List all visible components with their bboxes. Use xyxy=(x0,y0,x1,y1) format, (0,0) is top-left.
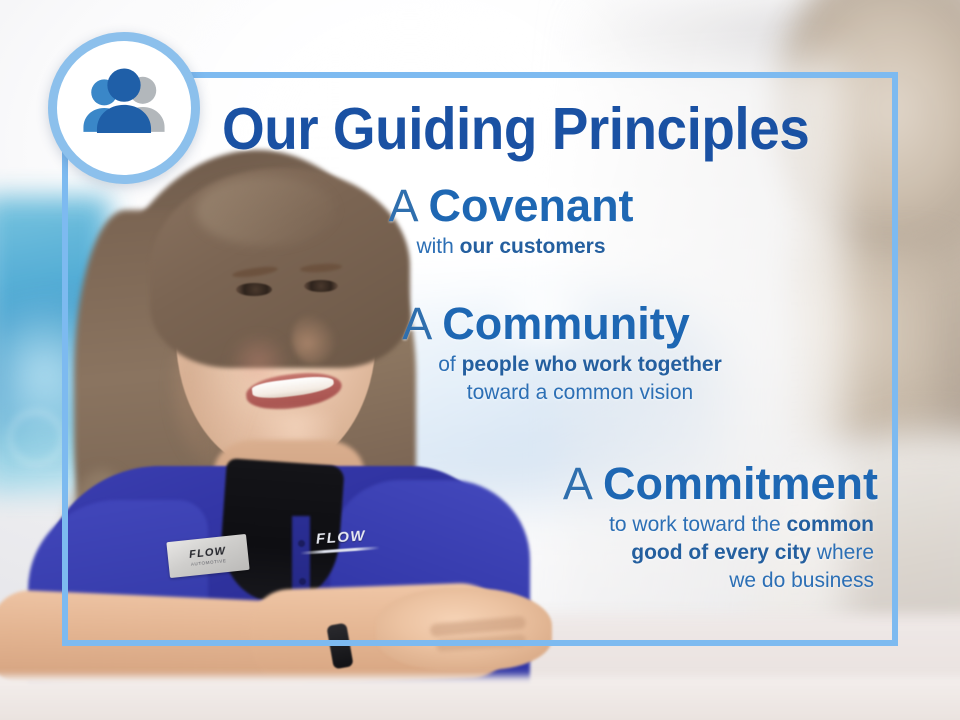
principle-3-title: A Commitment xyxy=(200,460,900,507)
principle-3-subtitle: to work toward the common good of every … xyxy=(200,511,900,595)
principle-2-title: A Community xyxy=(200,300,900,347)
text-content-block: Our Guiding Principles A Covenant with o… xyxy=(200,72,900,646)
principle-2-sub-line2: toward a common vision xyxy=(467,381,693,404)
principle-3-sub-line3: we do business xyxy=(729,569,874,592)
principle-3-sub-line1-plain: to work toward the xyxy=(609,513,786,536)
principle-2-subtitle: of people who work together toward a com… xyxy=(200,351,900,407)
principle-2-article: A xyxy=(402,298,430,349)
principle-3-sub-line2-bold: good of every city xyxy=(631,541,811,564)
principle-2-sub-line1-plain: of xyxy=(438,353,461,376)
principle-3-sub-line1-bold: common xyxy=(786,513,874,536)
people-group-icon-badge xyxy=(48,32,200,184)
principle-3-word: Commitment xyxy=(603,458,878,509)
principle-1-title: A Covenant xyxy=(200,182,900,229)
principle-commitment: A Commitment to work toward the common g… xyxy=(200,460,900,595)
principle-covenant: A Covenant with our customers xyxy=(200,182,900,261)
principle-3-sub-line2-plain: where xyxy=(811,541,874,564)
people-group-icon xyxy=(72,56,176,160)
desk-front-face xyxy=(0,676,960,720)
page-title: Our Guiding Principles xyxy=(222,100,836,159)
principle-2-word: Community xyxy=(442,298,690,349)
principle-3-article: A xyxy=(563,458,591,509)
principle-1-sub-plain: with xyxy=(416,235,459,258)
poster-canvas: FLOW AUTOMOTIVE FLOW Our Guiding Princ xyxy=(0,0,960,720)
principle-1-sub-bold: our customers xyxy=(460,235,606,258)
principle-1-word: Covenant xyxy=(429,180,634,231)
principle-1-article: A xyxy=(388,180,416,231)
principle-1-subtitle: with our customers xyxy=(200,233,900,261)
principle-community: A Community of people who work together … xyxy=(200,300,900,407)
principle-2-sub-line1-bold: people who work together xyxy=(462,353,722,376)
